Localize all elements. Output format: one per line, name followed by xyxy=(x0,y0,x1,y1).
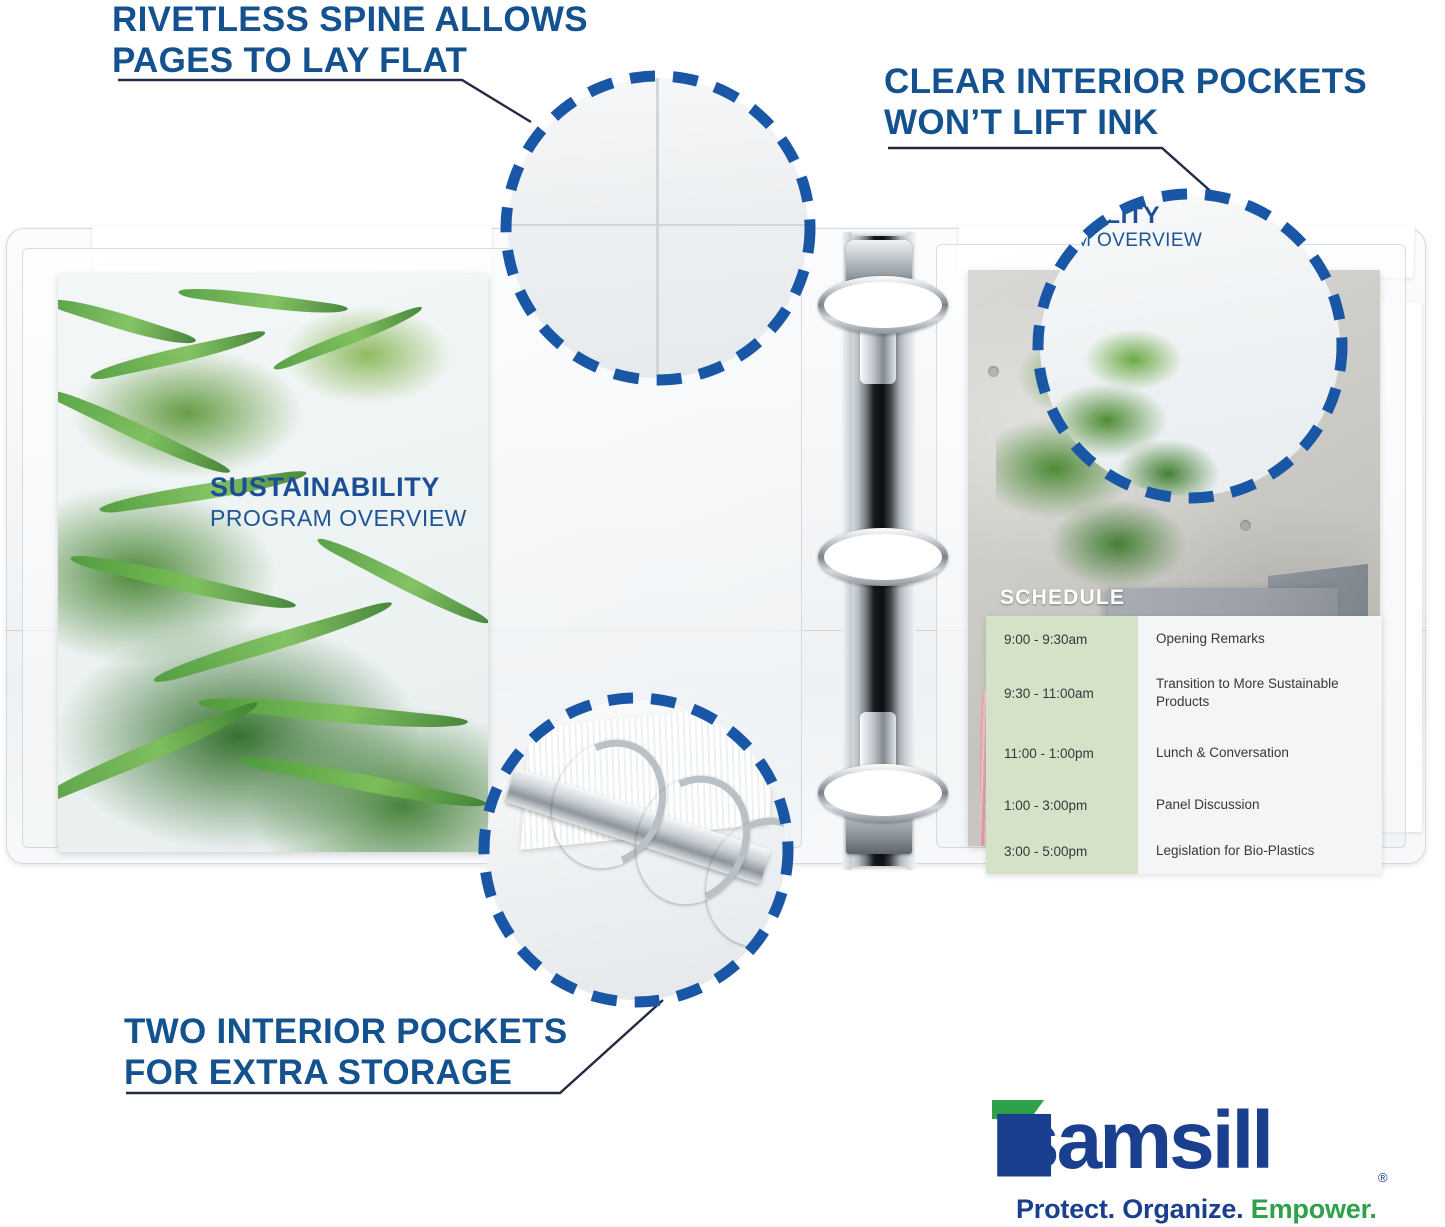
schedule-row: 3:00 - 5:00pm Legislation for Bio-Plasti… xyxy=(986,828,1382,874)
schedule-time: 1:00 - 3:00pm xyxy=(986,798,1138,813)
samsill-tagline: Protect. Organize. Empower. xyxy=(1016,1194,1377,1225)
magnified-title-line2: AM OVERVIEW xyxy=(1062,230,1202,252)
callout-line2: PAGES TO LAY FLAT xyxy=(112,41,588,82)
schedule-time: 11:00 - 1:00pm xyxy=(986,746,1138,761)
magnifier-clear-pocket-detail: ABILITY AM OVERVIEW xyxy=(1040,196,1340,496)
schedule-time: 9:30 - 11:00am xyxy=(986,686,1138,701)
magnified-page-title: ABILITY AM OVERVIEW xyxy=(1062,202,1202,252)
binder-ring-1 xyxy=(818,276,948,334)
schedule-time: 3:00 - 5:00pm xyxy=(986,844,1138,859)
schedule-task: Lunch & Conversation xyxy=(1138,724,1382,782)
magnified-title-line1: ABILITY xyxy=(1062,202,1202,230)
callout-rivetless-spine: RIVETLESS SPINE ALLOWS PAGES TO LAY FLAT xyxy=(112,0,588,81)
schedule-row: 1:00 - 3:00pm Panel Discussion xyxy=(986,782,1382,828)
binder-ring-3 xyxy=(818,764,948,822)
binder-ring-2 xyxy=(818,528,948,586)
tagline-green: Empower. xyxy=(1251,1194,1377,1224)
schedule-task: Legislation for Bio-Plastics xyxy=(1138,828,1382,874)
magnifier-pocket-detail xyxy=(486,700,786,1000)
rivetless-spine-mechanism xyxy=(820,236,936,866)
schedule-task: Opening Remarks xyxy=(1138,616,1382,662)
schedule-row: 9:00 - 9:30am Opening Remarks xyxy=(986,616,1382,662)
callout-line1: RIVETLESS SPINE ALLOWS xyxy=(112,0,588,41)
tagline-blue: Protect. Organize. xyxy=(1016,1194,1243,1224)
callout-line2: FOR EXTRA STORAGE xyxy=(124,1053,568,1094)
samsill-logo: samsill ® Protect. Organize. Empower. xyxy=(992,1098,1406,1222)
callout-clear-pockets: CLEAR INTERIOR POCKETS WON’T LIFT INK xyxy=(884,62,1367,143)
product-infographic: SUSTAINABILITY PROGRAM OVERVIEW xyxy=(0,0,1445,1227)
schedule-task: Panel Discussion xyxy=(1138,782,1382,828)
schedule-table: 9:00 - 9:30am Opening Remarks 9:30 - 11:… xyxy=(986,616,1382,874)
callout-line2: WON’T LIFT INK xyxy=(884,103,1367,144)
schedule-task: Transition to More Sustainable Products xyxy=(1138,662,1382,724)
schedule-row: 11:00 - 1:00pm Lunch & Conversation xyxy=(986,724,1382,782)
schedule-row: 9:30 - 11:00am Transition to More Sustai… xyxy=(986,662,1382,724)
magnified-bamboo xyxy=(1050,314,1240,496)
magnifier-spine-detail xyxy=(508,78,808,378)
schedule-heading: SCHEDULE xyxy=(1000,586,1125,610)
samsill-wordmark: samsill xyxy=(1014,1100,1271,1182)
callout-line1: TWO INTERIOR POCKETS xyxy=(124,1012,568,1053)
schedule-time: 9:00 - 9:30am xyxy=(986,632,1138,647)
registered-trademark-icon: ® xyxy=(1378,1170,1388,1185)
callout-two-pockets: TWO INTERIOR POCKETS FOR EXTRA STORAGE xyxy=(124,1012,568,1093)
callout-line1: CLEAR INTERIOR POCKETS xyxy=(884,62,1367,103)
